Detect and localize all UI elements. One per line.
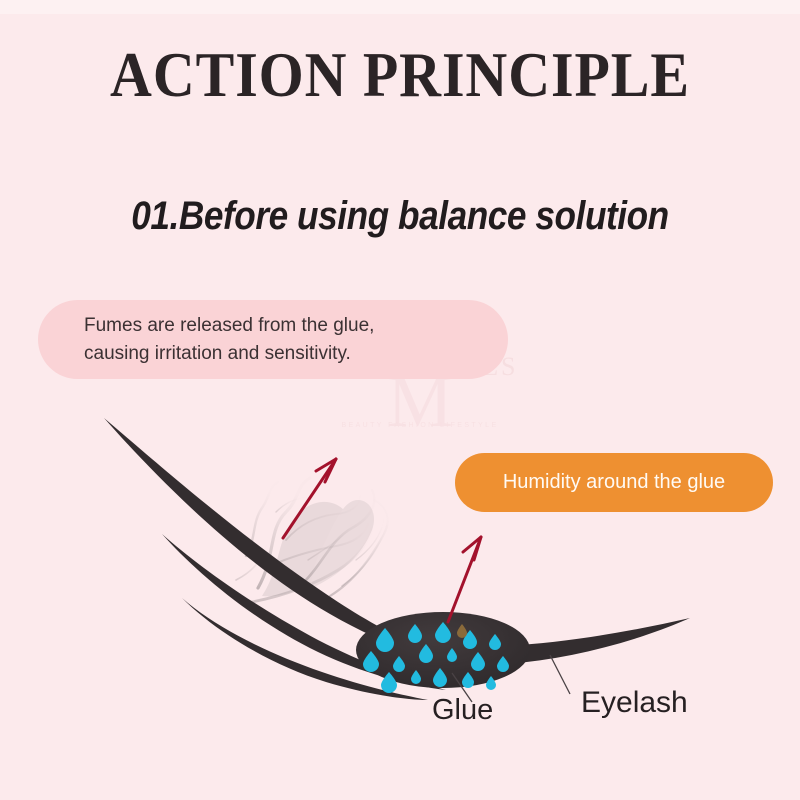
smoke-soft-fill [262,500,374,596]
callout-orange-text: Humidity around the glue [503,471,725,494]
label-eyelash: Eyelash [581,686,688,720]
callout-orange[interactable]: Humidity around the glue [455,453,773,512]
arrow-right [448,537,481,622]
callout-pink[interactable]: Fumes are released from the glue, causin… [38,300,508,379]
eyelash-diagram-illustration [0,0,800,800]
poster-root: ACTION PRINCIPLE 01.Before using balance… [0,0,800,800]
label-glue: Glue [432,694,493,727]
leader-line-eyelash [550,655,570,694]
callout-pink-text: Fumes are released from the glue, causin… [84,312,508,368]
